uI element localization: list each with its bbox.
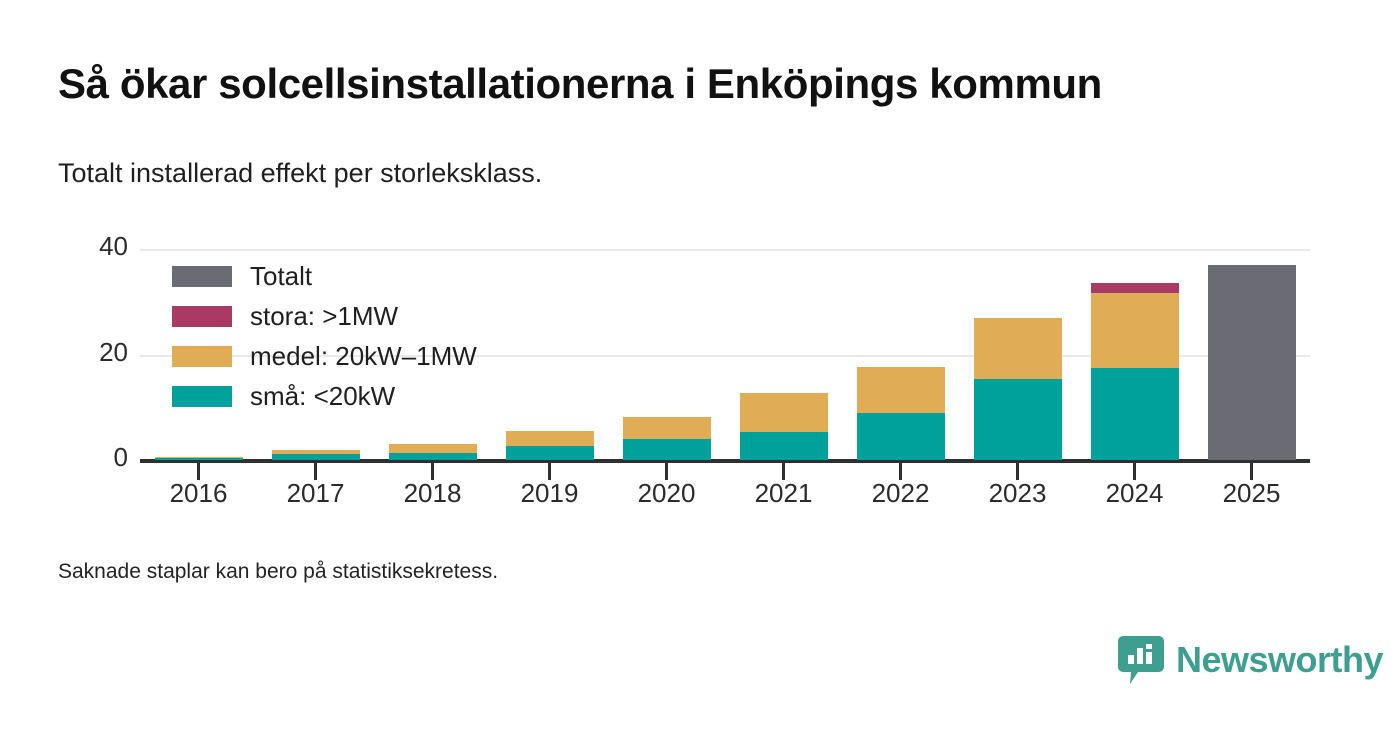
bar-segment-sma[interactable] (974, 379, 1062, 460)
bar-group[interactable] (506, 459, 594, 460)
x-tick-label-2021: 2021 (724, 478, 844, 509)
bar-group[interactable] (857, 459, 945, 460)
bar-segment-medel[interactable] (857, 367, 945, 413)
y-tick-label: 40 (50, 231, 128, 262)
bar-segment-medel[interactable] (974, 318, 1062, 379)
x-tick-label-2022: 2022 (841, 478, 961, 509)
x-tick-label-2017: 2017 (256, 478, 376, 509)
bar-group[interactable] (272, 459, 360, 460)
bar-chart-speech-bubble-icon (1118, 636, 1164, 684)
bar-group[interactable] (155, 459, 243, 460)
bar-segment-sma[interactable] (623, 439, 711, 460)
chart-footnote: Saknade staplar kan bero på statistiksek… (58, 560, 498, 584)
legend-label-medel: medel: 20kW–1MW (250, 341, 477, 372)
x-tick-label-2025: 2025 (1192, 478, 1312, 509)
x-tick-label-2016: 2016 (139, 478, 259, 509)
legend-item-medel[interactable]: medel: 20kW–1MW (172, 336, 477, 376)
legend-item-stora[interactable]: stora: >1MW (172, 296, 477, 336)
chart-legend: Totaltstora: >1MWmedel: 20kW–1MWsmå: <20… (172, 256, 477, 416)
legend-swatch-total (172, 266, 232, 287)
bar-segment-sma[interactable] (857, 413, 945, 460)
legend-label-stora: stora: >1MW (250, 301, 398, 332)
bar-segment-medel[interactable] (623, 417, 711, 439)
bar-segment-medel[interactable] (389, 444, 477, 453)
bar-segment-medel[interactable] (155, 457, 243, 458)
legend-item-sma[interactable]: små: <20kW (172, 376, 477, 416)
x-tick-label-2023: 2023 (958, 478, 1078, 509)
logo-wordmark: Newsworthy (1176, 639, 1383, 681)
bar-segment-sma[interactable] (740, 432, 828, 460)
bar-group[interactable] (623, 459, 711, 460)
bar-segment-sma[interactable] (155, 458, 243, 460)
legend-swatch-medel (172, 346, 232, 367)
gridline-40 (140, 249, 1310, 251)
bar-segment-medel[interactable] (740, 393, 828, 432)
bar-segment-medel[interactable] (272, 450, 360, 454)
legend-label-sma: små: <20kW (250, 381, 395, 412)
legend-label-total: Totalt (250, 261, 312, 292)
bar-group[interactable] (740, 459, 828, 460)
bar-segment-medel[interactable] (1091, 293, 1179, 368)
legend-swatch-sma (172, 386, 232, 407)
bar-segment-stora[interactable] (1091, 283, 1179, 293)
bar-group[interactable] (389, 459, 477, 460)
x-tick-label-2019: 2019 (490, 478, 610, 509)
bar-segment-sma[interactable] (389, 453, 477, 460)
y-tick-label: 20 (50, 337, 128, 368)
x-tick-label-2024: 2024 (1075, 478, 1195, 509)
bar-group[interactable] (1091, 459, 1179, 460)
legend-item-total[interactable]: Totalt (172, 256, 477, 296)
x-tick-label-2020: 2020 (607, 478, 727, 509)
bar-segment-total[interactable] (1208, 265, 1296, 460)
bar-segment-sma[interactable] (506, 446, 594, 460)
bar-segment-medel[interactable] (506, 431, 594, 446)
bar-group[interactable] (1208, 459, 1296, 460)
legend-swatch-stora (172, 306, 232, 327)
bar-segment-sma[interactable] (272, 454, 360, 460)
newsworthy-logo: Newsworthy (1118, 636, 1383, 684)
bar-segment-sma[interactable] (1091, 368, 1179, 460)
y-tick-label: 0 (50, 442, 128, 473)
bar-group[interactable] (974, 459, 1062, 460)
x-tick-label-2018: 2018 (373, 478, 493, 509)
